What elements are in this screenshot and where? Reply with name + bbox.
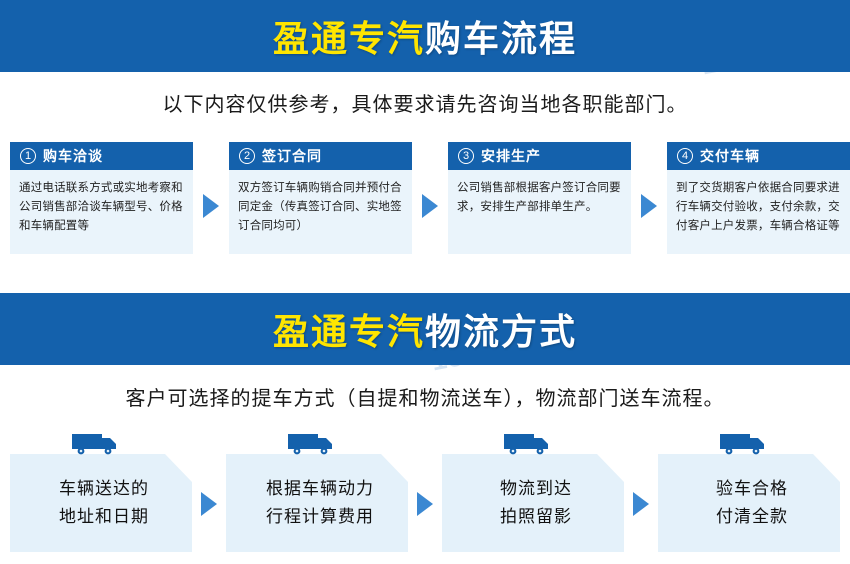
purchase-flow-subtitle: 以下内容仅供参考，具体要求请先咨询当地各职能部门。 [0, 88, 850, 117]
step-number: 1 [20, 148, 36, 164]
logistics-line-1: 物流到达 [500, 475, 572, 503]
step-card-3: 3 安排生产 公司销售部根据客户签订合同要求，安排生产部排单生产。 [448, 142, 631, 254]
step-header: 3 安排生产 [448, 142, 631, 170]
step-card-2: 2 签订合同 双方签订车辆购销合同并预付合同定金（传真签订合同、实地签订合同均可… [229, 142, 412, 254]
logistics-card-2: 根据车辆动力 行程计算费用 [226, 454, 408, 552]
logistics-line-2: 付清全款 [716, 503, 788, 531]
step-body: 公司销售部根据客户签订合同要求，安排生产部排单生产。 [448, 170, 631, 217]
logistics-wrap: 物流到达 拍照留影 [442, 432, 624, 552]
logistics-card-list: 车辆送达的 地址和日期 根据车辆动力 行程计算费用 [10, 432, 840, 552]
logistics-line-1: 根据车辆动力 [266, 475, 374, 503]
arrow-right-icon [633, 492, 649, 516]
logistics-banner: 盈通专汽物流方式 [0, 293, 850, 365]
arrow-right-icon [422, 194, 438, 218]
step-wrap: 4 交付车辆 到了交货期客户依据合同要求进行车辆交付验收，支付余款，交付客户上户… [667, 140, 850, 255]
logistics-subtitle: 客户可选择的提车方式（自提和物流送车），物流部门送车流程。 [0, 382, 850, 411]
step-header: 4 交付车辆 [667, 142, 850, 170]
logistics-card-4: 验车合格 付清全款 [658, 454, 840, 552]
logistics-card-3: 物流到达 拍照留影 [442, 454, 624, 552]
logistics-card-text: 根据车辆动力 行程计算费用 [260, 475, 374, 531]
arrow-right-icon [201, 492, 217, 516]
step-number: 3 [458, 148, 474, 164]
step-wrap: 2 签订合同 双方签订车辆购销合同并预付合同定金（传真签订合同、实地签订合同均可… [229, 140, 412, 255]
step-title: 签订合同 [262, 146, 322, 166]
banner-subject: 购车流程 [425, 18, 577, 59]
logistics-line-2: 拍照留影 [500, 503, 572, 531]
step-wrap: 3 安排生产 公司销售部根据客户签订合同要求，安排生产部排单生产。 [448, 140, 631, 255]
logistics-card-text: 车辆送达的 地址和日期 [53, 475, 149, 531]
banner-title: 盈通专汽购车流程 [273, 10, 577, 62]
arrow-right-icon [641, 194, 657, 218]
step-number: 2 [239, 148, 255, 164]
step-body: 到了交货期客户依据合同要求进行车辆交付验收，支付余款，交付客户上户发票，车辆合格… [667, 170, 850, 236]
logistics-wrap: 车辆送达的 地址和日期 [10, 432, 192, 552]
brand-name: 盈通专汽 [273, 18, 425, 59]
banner-title: 盈通专汽物流方式 [273, 303, 577, 355]
arrow-right-icon [417, 492, 433, 516]
step-title: 购车洽谈 [43, 146, 103, 166]
logistics-line-1: 验车合格 [716, 475, 788, 503]
step-title: 安排生产 [481, 146, 541, 166]
logistics-card-1: 车辆送达的 地址和日期 [10, 454, 192, 552]
truck-icon [720, 432, 766, 456]
page-root: 13886852428 13886852428 13886852428 1388… [0, 0, 850, 564]
logistics-line-1: 车辆送达的 [59, 475, 149, 503]
logistics-line-2: 地址和日期 [59, 503, 149, 531]
truck-icon [288, 432, 334, 456]
step-number: 4 [677, 148, 693, 164]
truck-icon [504, 432, 550, 456]
step-title: 交付车辆 [700, 146, 760, 166]
step-body: 通过电话联系方式或实地考察和公司销售部洽谈车辆型号、价格和车辆配置等 [10, 170, 193, 236]
arrow-right-icon [203, 194, 219, 218]
brand-name: 盈通专汽 [273, 311, 425, 352]
step-card-4: 4 交付车辆 到了交货期客户依据合同要求进行车辆交付验收，支付余款，交付客户上户… [667, 142, 850, 254]
logistics-wrap: 根据车辆动力 行程计算费用 [226, 432, 408, 552]
truck-icon [72, 432, 118, 456]
step-header: 2 签订合同 [229, 142, 412, 170]
step-header: 1 购车洽谈 [10, 142, 193, 170]
logistics-wrap: 验车合格 付清全款 [658, 432, 840, 552]
logistics-card-text: 物流到达 拍照留影 [494, 475, 572, 531]
purchase-step-list: 1 购车洽谈 通过电话联系方式或实地考察和公司销售部洽谈车辆型号、价格和车辆配置… [10, 140, 840, 255]
step-wrap: 1 购车洽谈 通过电话联系方式或实地考察和公司销售部洽谈车辆型号、价格和车辆配置… [10, 140, 193, 255]
purchase-flow-banner: 盈通专汽购车流程 [0, 0, 850, 72]
step-body: 双方签订车辆购销合同并预付合同定金（传真签订合同、实地签订合同均可） [229, 170, 412, 236]
step-card-1: 1 购车洽谈 通过电话联系方式或实地考察和公司销售部洽谈车辆型号、价格和车辆配置… [10, 142, 193, 254]
logistics-line-2: 行程计算费用 [266, 503, 374, 531]
logistics-card-text: 验车合格 付清全款 [710, 475, 788, 531]
banner-subject: 物流方式 [425, 311, 577, 352]
